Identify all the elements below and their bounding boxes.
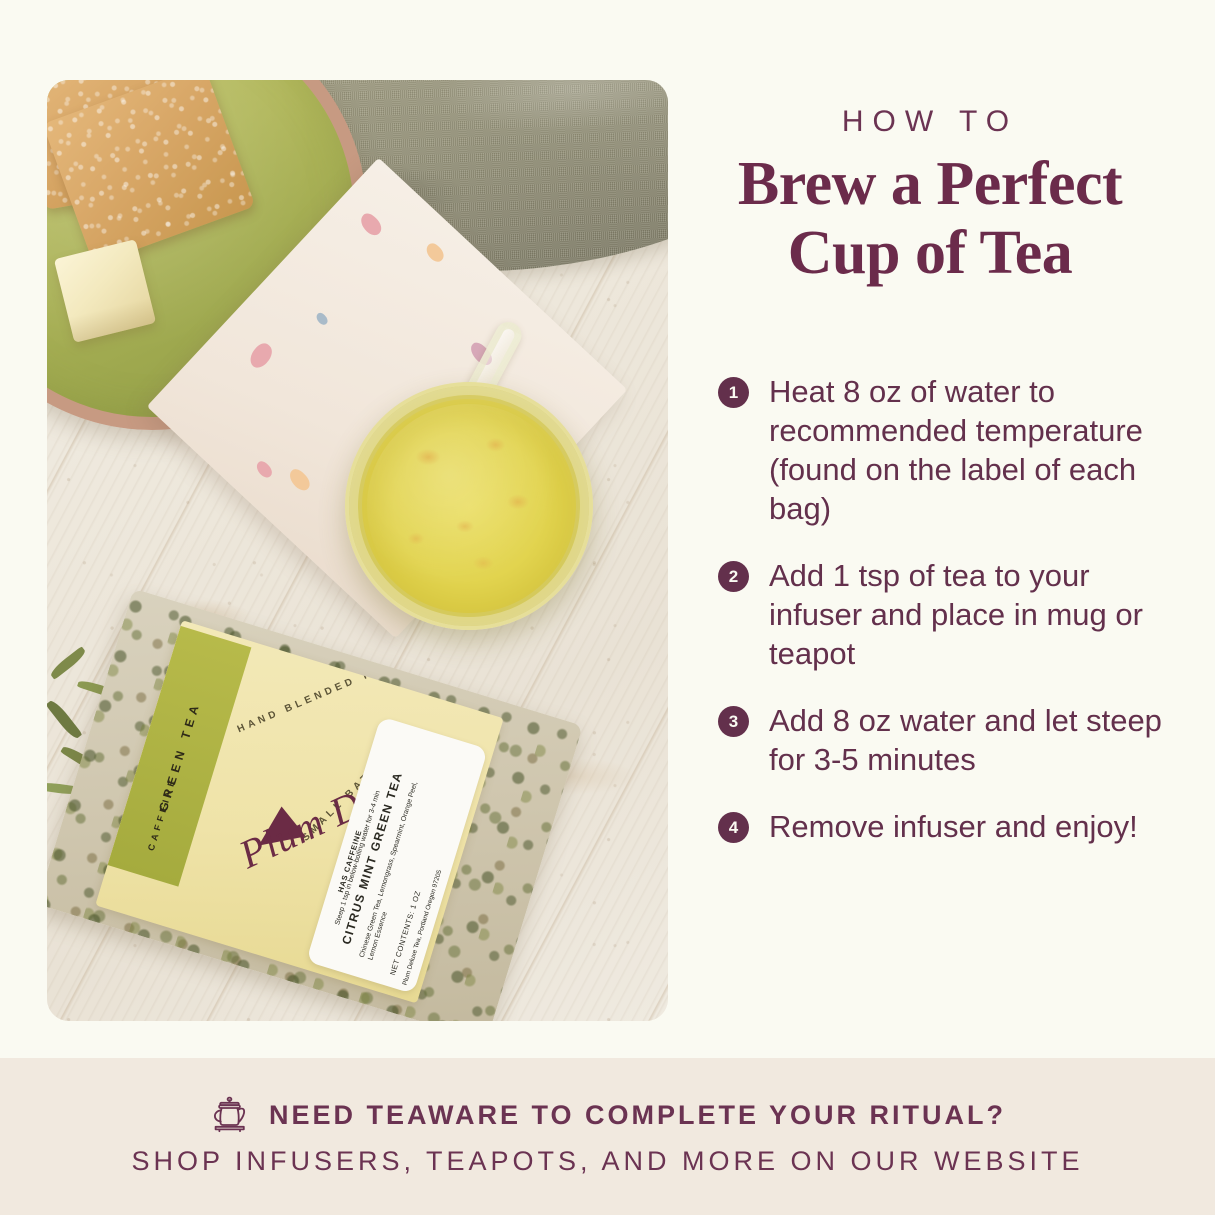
footer-subline: SHOP INFUSERS, TEAPOTS, AND MORE ON OUR … — [131, 1146, 1083, 1177]
page-title: Brew a Perfect Cup of Tea — [700, 150, 1160, 289]
teapot-icon — [209, 1096, 251, 1134]
footer-primary-row: NEED TEAWARE TO COMPLETE YOUR RITUAL? — [209, 1096, 1006, 1134]
instructions-panel: HOW TO Brew a Perfect Cup of Tea 1 Heat … — [700, 0, 1200, 1050]
brewing-steps-list: 1 Heat 8 oz of water to recommended temp… — [718, 372, 1188, 874]
step-number-badge: 1 — [718, 377, 749, 408]
step-text: Add 1 tsp of tea to your infuser and pla… — [769, 556, 1188, 673]
step-text: Remove infuser and enjoy! — [769, 807, 1138, 846]
step-text: Add 8 oz water and let steep for 3-5 min… — [769, 701, 1188, 779]
footer-headline: NEED TEAWARE TO COMPLETE YOUR RITUAL? — [269, 1100, 1006, 1131]
list-item: 1 Heat 8 oz of water to recommended temp… — [718, 372, 1188, 528]
kicker-text: HOW TO — [700, 105, 1160, 139]
footer-banner: NEED TEAWARE TO COMPLETE YOUR RITUAL? SH… — [0, 1058, 1215, 1215]
list-item: 4 Remove infuser and enjoy! — [718, 807, 1188, 846]
list-item: 2 Add 1 tsp of tea to your infuser and p… — [718, 556, 1188, 673]
step-number-badge: 2 — [718, 561, 749, 592]
step-number-badge: 4 — [718, 812, 749, 843]
list-item: 3 Add 8 oz water and let steep for 3-5 m… — [718, 701, 1188, 779]
hero-photo: GREEN TEA CAFFEINE HAND BLENDED TEAS SMA… — [47, 80, 668, 1021]
step-number-badge: 3 — [718, 706, 749, 737]
glass-tea-cup — [345, 382, 593, 630]
headline-line-2: Cup of Tea — [788, 219, 1072, 287]
headline-line-1: Brew a Perfect — [738, 150, 1122, 218]
step-text: Heat 8 oz of water to recommended temper… — [769, 372, 1188, 528]
